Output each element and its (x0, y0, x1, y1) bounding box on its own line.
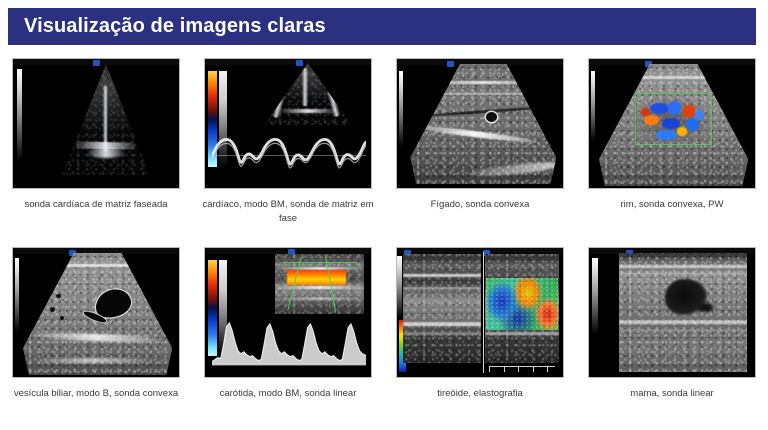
tile-caption: rim, sonda convexa, PW (582, 198, 762, 212)
tile-caption: mama, sonda linear (582, 387, 762, 401)
m-mode-waveform (212, 129, 366, 173)
elastography-pane (485, 254, 559, 363)
gallery-tile-cardiac-phased-array[interactable]: sonda cardíaca de matriz faseada (0, 52, 192, 241)
ultrasound-image-cardiac-phased-array[interactable] (12, 58, 180, 189)
liver-capsule (35, 264, 161, 267)
grayscale-bar (397, 256, 402, 318)
doppler-flow-blob (650, 103, 669, 114)
gallery-tile-breast-linear[interactable]: mama, sonda linear (576, 241, 768, 430)
liver-capsule (419, 81, 548, 84)
pw-spectrum-pane (205, 315, 371, 371)
ultrasound-image-cardiac-bm-mode[interactable] (204, 58, 372, 189)
sector-fan (23, 253, 172, 375)
tile-caption: Fígado, sonda convexa (390, 198, 570, 212)
probe-orientation-marker-icon (93, 60, 100, 66)
tile-caption: cardíaco, modo BM, sonda de matriz em fa… (198, 198, 378, 226)
doppler-flow-blob (683, 105, 695, 117)
grayscale-bar (399, 71, 403, 147)
ultrasound-image-gallbladder-b-convex[interactable] (12, 247, 180, 378)
doppler-flow-blob (644, 115, 659, 125)
ultrasound-image-carotid-bm-linear[interactable] (204, 247, 372, 378)
gallery-tile-thyroid-elastography[interactable]: tireóide, elastografia (384, 241, 576, 430)
ultrasound-image-breast-linear[interactable] (588, 247, 756, 378)
color-doppler-pane (275, 254, 365, 314)
ultrasound-image-kidney-convex-pw[interactable] (588, 58, 756, 189)
grayscale-bar (592, 258, 598, 334)
gallery-row-1: sonda cardíaca de matriz faseada (0, 52, 768, 241)
doppler-flow-blob (641, 108, 650, 117)
gallery-tile-carotid-bm-linear[interactable]: carótida, modo BM, sonda linear (192, 241, 384, 430)
b-mode-pane (403, 254, 481, 363)
pane-divider (483, 252, 484, 373)
doppler-flow-blob (662, 118, 680, 129)
elastography-overlay (486, 278, 557, 330)
linear-scan-frame (619, 253, 747, 372)
tile-caption: sonda cardíaca de matriz faseada (6, 198, 186, 212)
sector-fan (59, 64, 152, 175)
gallery-row-2: vesícula biliar, modo B, sonda convexa (0, 241, 768, 430)
color-box-outline (282, 262, 357, 263)
page-title: Visualização de imagens claras (8, 15, 326, 38)
carotid-far-wall (277, 286, 363, 289)
pw-doppler-spectrum (212, 319, 366, 365)
gallery-tile-liver-convex[interactable]: Fígado, sonda convexa (384, 52, 576, 241)
tile-caption: carótida, modo BM, sonda linear (198, 387, 378, 401)
grayscale-bar (15, 258, 19, 332)
doppler-flow-blob (656, 130, 677, 140)
m-mode-trace-pane (205, 126, 371, 182)
tile-caption: tireóide, elastografia (390, 387, 570, 401)
sector-fan (410, 64, 556, 184)
page-title-bar: Visualização de imagens claras (8, 8, 756, 45)
gallery-tile-kidney-convex-pw[interactable]: rim, sonda convexa, PW (576, 52, 768, 241)
depth-ruler (489, 366, 555, 372)
sector-fan (261, 63, 354, 125)
gallery-tile-cardiac-bm-mode[interactable]: cardíaco, modo BM, sonda de matriz em fa… (192, 52, 384, 241)
tile-caption: vesícula biliar, modo B, sonda convexa (6, 387, 186, 401)
doppler-flow-blob (677, 127, 687, 136)
ultrasound-image-liver-convex[interactable] (396, 58, 564, 189)
doppler-flow-blob (668, 101, 681, 116)
b-mode-pane (205, 63, 371, 125)
probe-orientation-marker-icon (447, 61, 454, 67)
grayscale-bar (17, 69, 22, 161)
ultrasound-image-thyroid-elastography[interactable] (396, 247, 564, 378)
sector-fan (599, 64, 748, 186)
gallery-tile-gallbladder-b-convex[interactable]: vesícula biliar, modo B, sonda convexa (0, 241, 192, 430)
grayscale-bar (591, 71, 595, 141)
ultrasound-gallery: sonda cardíaca de matriz faseada (0, 52, 768, 430)
doppler-flow-blob (695, 110, 704, 120)
